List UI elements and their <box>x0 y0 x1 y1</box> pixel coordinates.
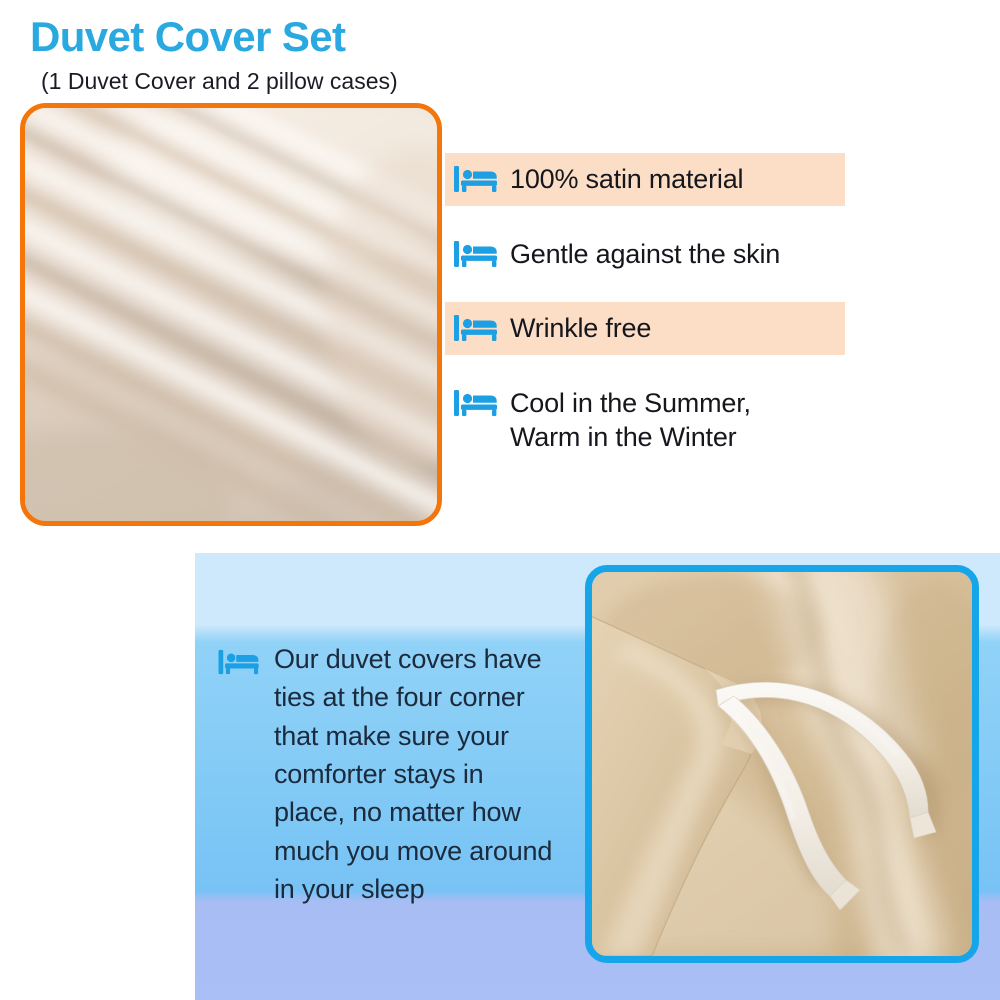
feature-item: Gentle against the skin <box>445 228 845 281</box>
bed-icon <box>454 313 500 343</box>
feature-label: Cool in the Summer, Warm in the Winter <box>510 386 751 455</box>
feature-label: 100% satin material <box>510 162 743 197</box>
feature-item: Cool in the Summer, Warm in the Winter <box>445 377 845 464</box>
feature-item: 100% satin material <box>445 153 845 206</box>
fabric-photo <box>20 103 442 526</box>
tie-description-block: Our duvet covers have ties at the four c… <box>218 640 568 908</box>
feature-label: Wrinkle free <box>510 311 651 346</box>
feature-item: Wrinkle free <box>445 302 845 355</box>
page-title: Duvet Cover Set <box>30 16 345 58</box>
feature-list: 100% satin material Gentle against the s… <box>445 153 845 464</box>
bed-icon <box>454 388 500 418</box>
tie-detail-photo <box>585 565 979 963</box>
tie-description-text: Our duvet covers have ties at the four c… <box>274 640 552 908</box>
bed-icon <box>218 648 262 676</box>
bed-icon <box>454 239 500 269</box>
duvet-tie-image <box>592 572 972 956</box>
satin-fabric-image <box>25 108 437 521</box>
bed-icon <box>454 164 500 194</box>
page-subtitle: (1 Duvet Cover and 2 pillow cases) <box>41 70 398 93</box>
feature-label: Gentle against the skin <box>510 237 780 272</box>
